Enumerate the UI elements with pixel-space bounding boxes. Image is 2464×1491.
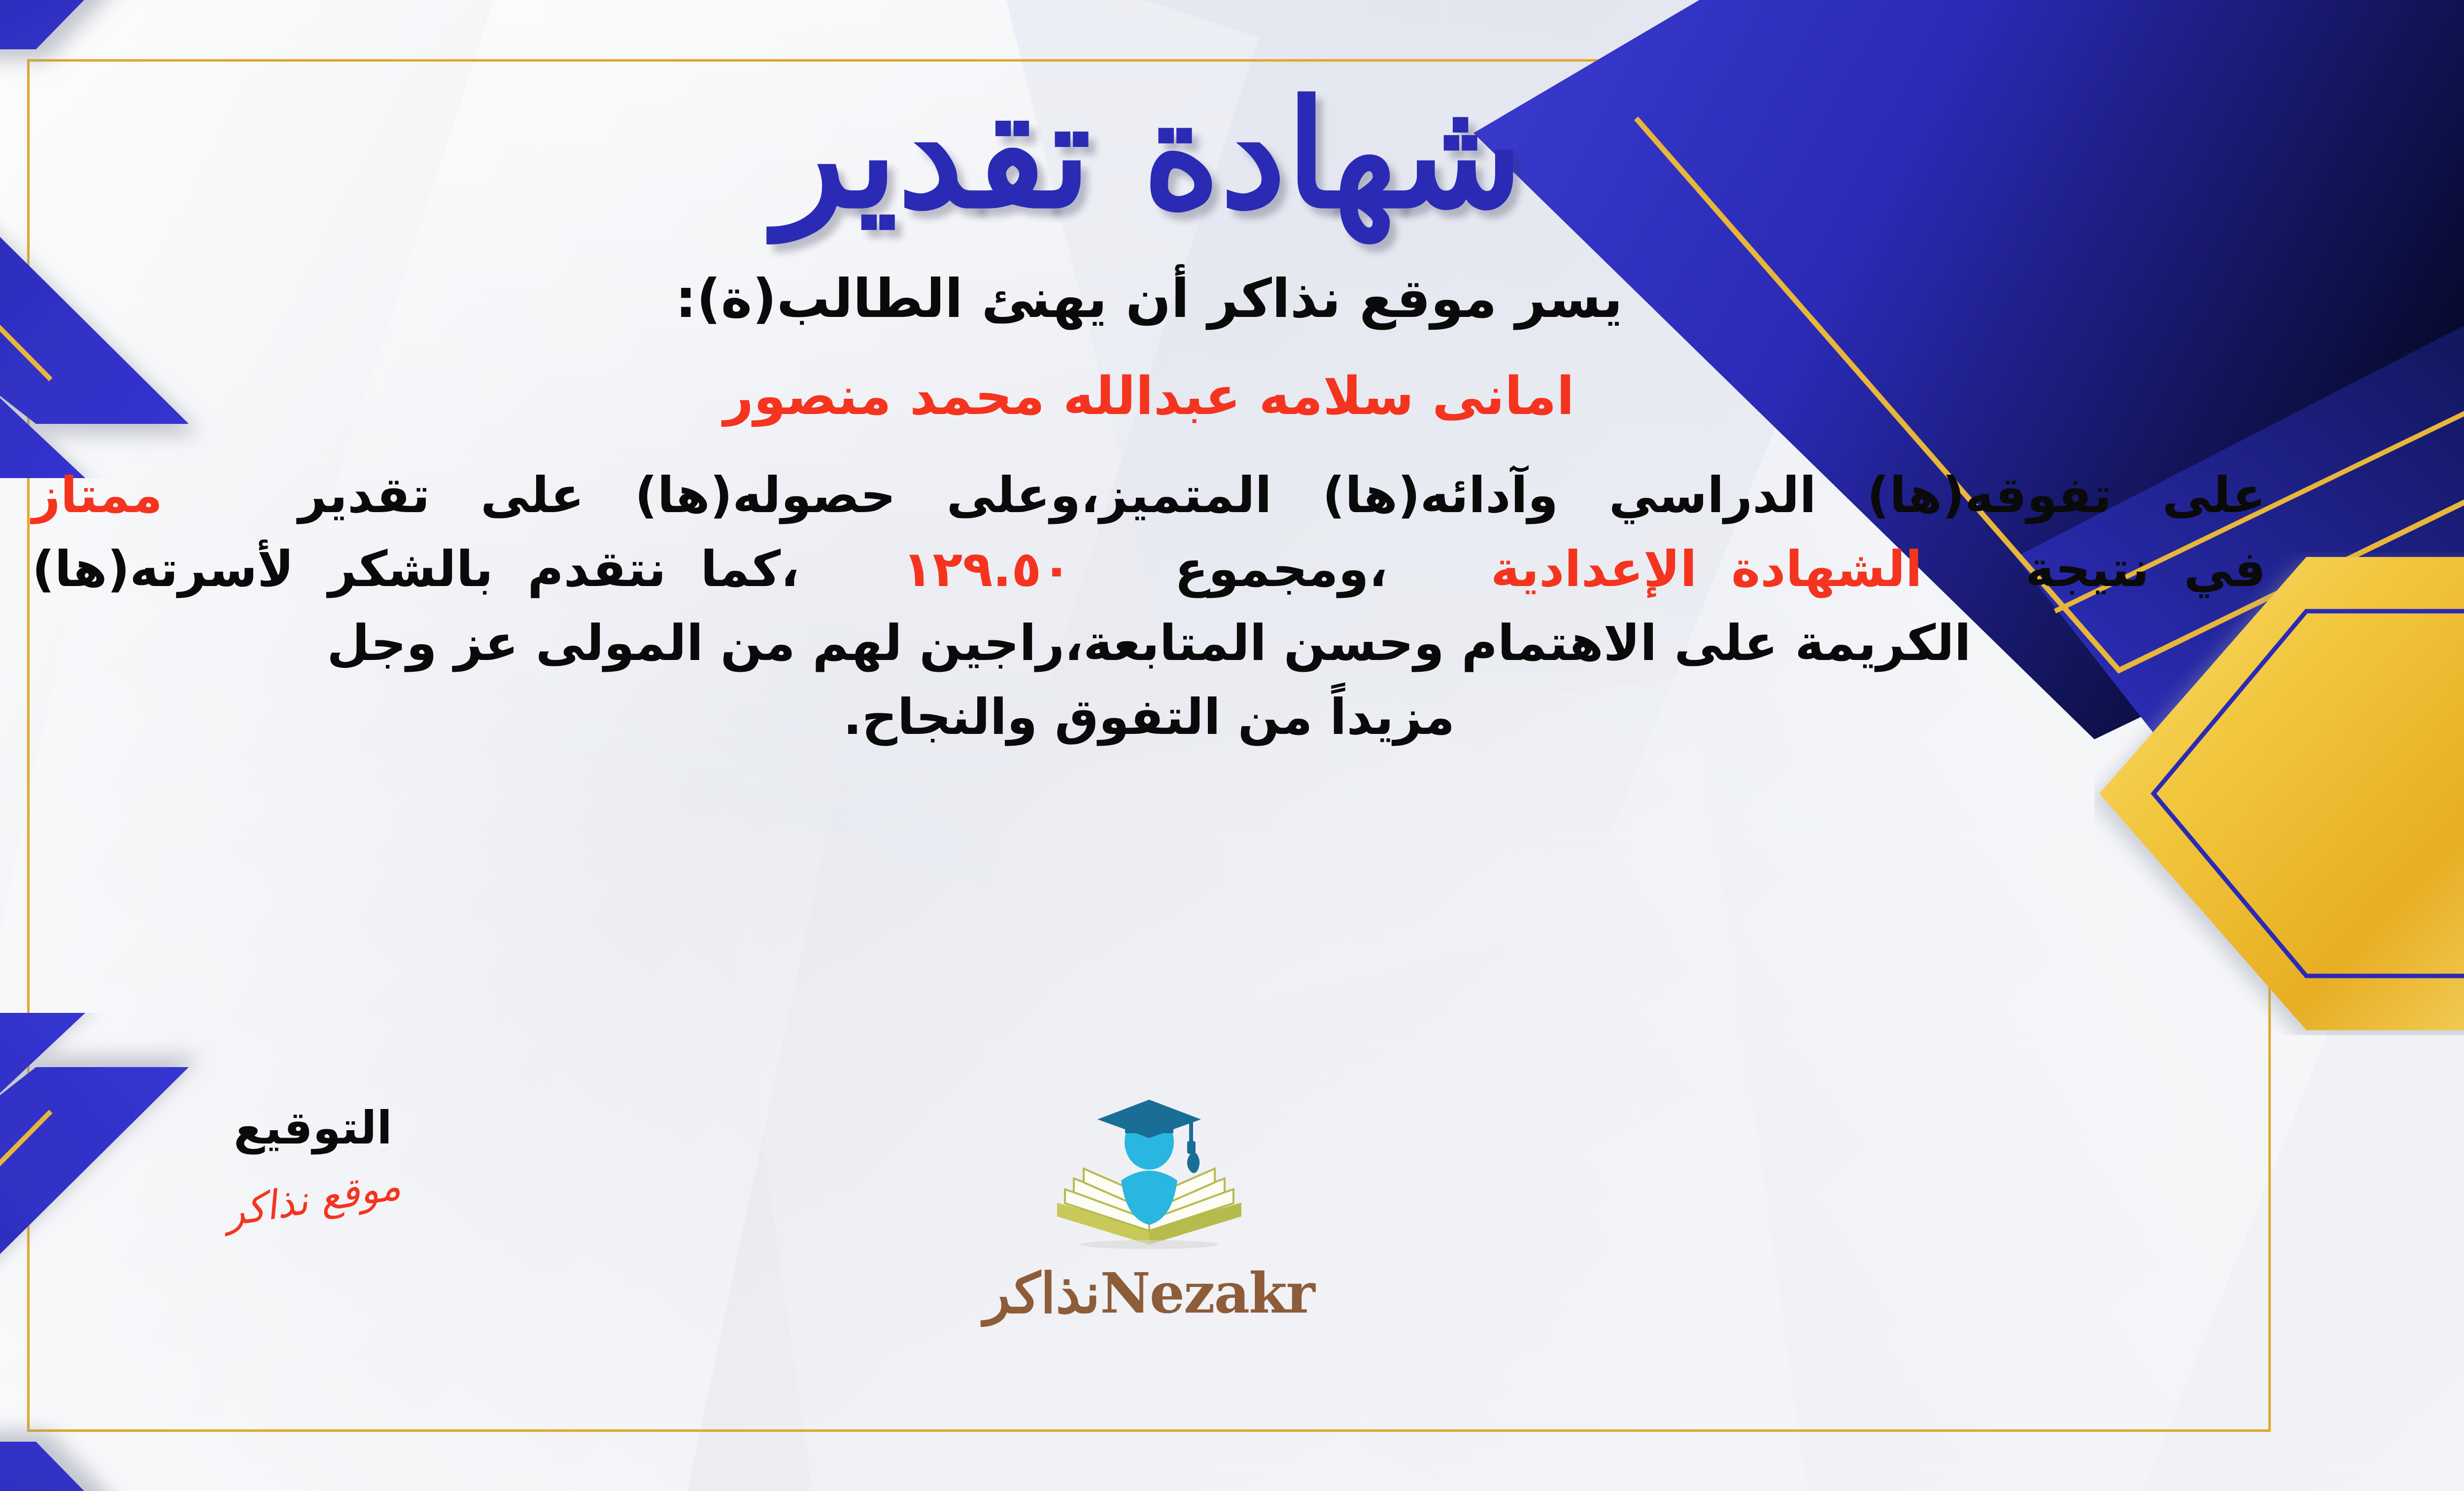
logo-wordmark: Nezakrنذاكر xyxy=(962,1261,1336,1326)
achievement-line-2: في نتيجة الشهادة الإعدادية ،ومجموع ١٢٩.٥… xyxy=(27,534,2271,604)
thanks-text: ،كما نتقدم بالشكر لأسرته(ها) xyxy=(32,540,799,598)
signature-label: التوقيع xyxy=(175,1102,451,1154)
certificate-footer: التوقيع موقع نذاكر xyxy=(27,1102,2271,1407)
achievement-line-3: الكريمة على الاهتمام وحسن المتابعة،راجين… xyxy=(27,608,2271,678)
page-title: شهادة تقدير xyxy=(775,76,1523,232)
nezakr-logo: Nezakrنذاكر xyxy=(962,1097,1336,1326)
logo-wordmark-en: Nezakr xyxy=(1100,1261,1314,1326)
certificate-body-text: يسر موقع نذاكر أن يهنئ الطالب(ة): امانى … xyxy=(27,261,2271,756)
signature-block: التوقيع موقع نذاكر xyxy=(175,1102,451,1222)
exam-prefix-text: في نتيجة xyxy=(2025,540,2266,598)
grade-value: ممتاز xyxy=(32,466,163,524)
achievement-text: على تفوقه(ها) الدراسي وآدائه(ها) المتميز… xyxy=(298,466,2266,524)
achievement-line-1: على تفوقه(ها) الدراسي وآدائه(ها) المتميز… xyxy=(27,460,2271,530)
achievement-line-4: مزيداً من التفوق والنجاح. xyxy=(27,682,2271,752)
logo-wordmark-ar: نذاكر xyxy=(984,1261,1100,1326)
total-score-value: ١٢٩.٥٠ xyxy=(902,540,1071,598)
total-label-text: ،ومجموع xyxy=(1175,540,1388,598)
exam-name: الشهادة الإعدادية xyxy=(1491,540,1922,598)
certificate-page: شهادة تقدير يسر موقع نذاكر أن يهنئ الطال… xyxy=(0,0,2464,1491)
signature-mark: موقع نذاكر xyxy=(222,1162,404,1235)
greeting-line: يسر موقع نذاكر أن يهنئ الطالب(ة): xyxy=(27,261,2271,337)
student-name: امانى سلامه عبدالله محمد منصور xyxy=(27,359,2271,434)
graduate-book-icon xyxy=(1043,1097,1255,1259)
